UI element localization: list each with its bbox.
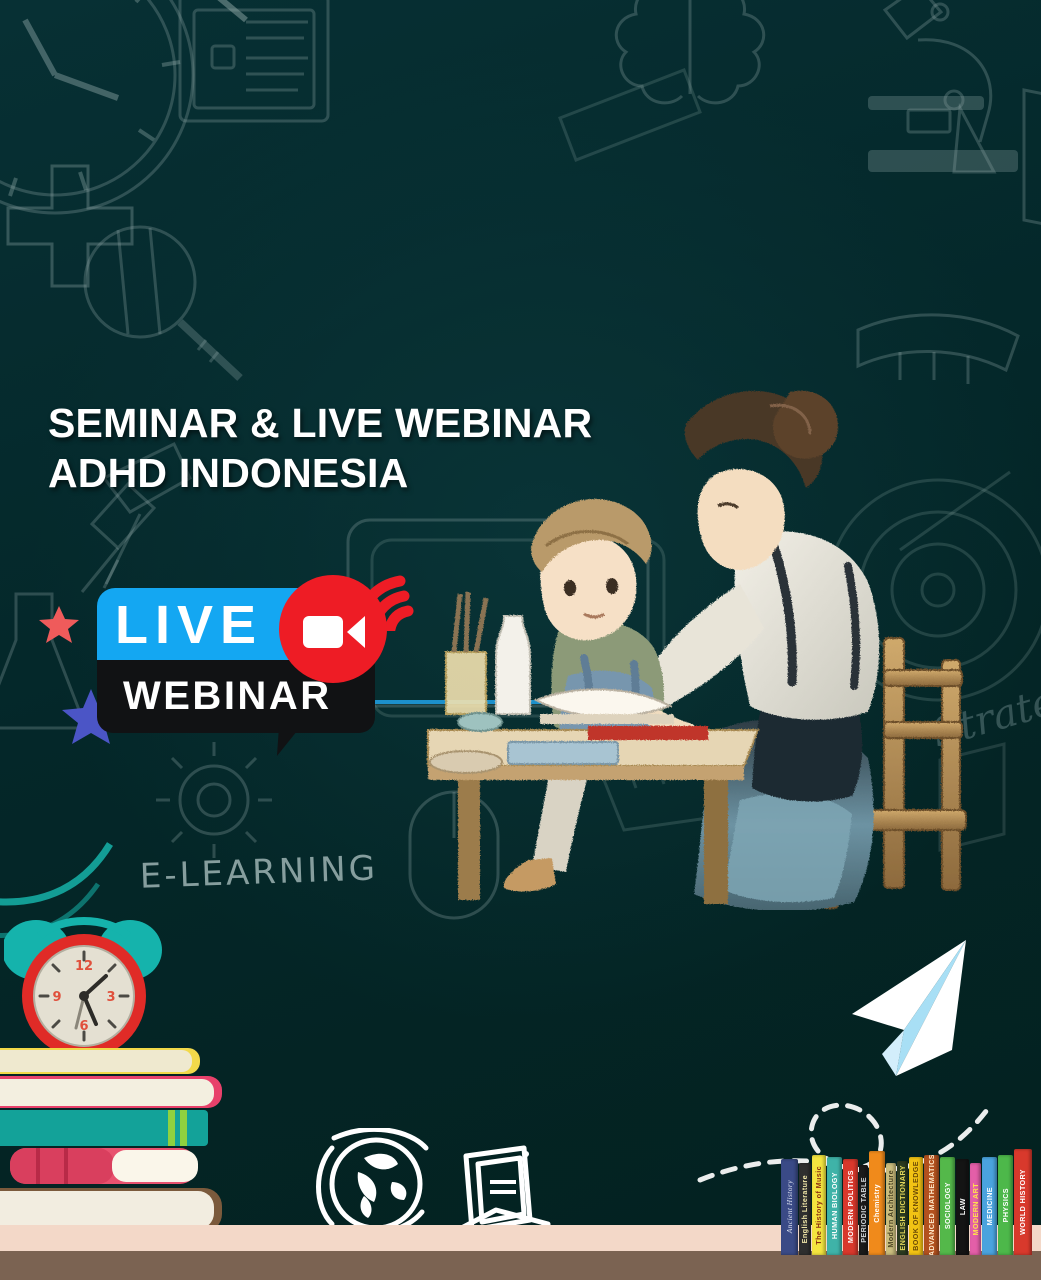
book-spine: English Literature (799, 1163, 811, 1255)
book-spine-title: MEDICINE (986, 1187, 993, 1225)
book-spine: The History of Music (812, 1155, 826, 1255)
book-spine: HUMAN BIOLOGY (827, 1157, 842, 1255)
book-spine: MEDICINE (982, 1157, 997, 1255)
book-spine-title: Chemistry (873, 1184, 880, 1223)
book-spine-title: ADVANCED MATHEMATICS (928, 1155, 935, 1255)
book-spine: Modern Architecture (886, 1163, 896, 1255)
book-spine: MODERN ART (970, 1163, 981, 1255)
book-spine: PERIODIC TABLE (859, 1165, 868, 1255)
book-spine: PHYSICS (998, 1155, 1013, 1255)
book-stack (0, 1048, 256, 1248)
video-camera-icon (303, 612, 365, 652)
live-label: LIVE (115, 594, 305, 656)
airplane-body (852, 940, 966, 1076)
book-spine-title: SOCIOLOGY (944, 1182, 951, 1229)
book-spine-title: MODERN POLITICS (847, 1170, 854, 1243)
book-spine-title: Modern Architecture (887, 1170, 894, 1248)
book-spine-title: HUMAN BIOLOGY (831, 1172, 838, 1239)
svg-text:12: 12 (75, 959, 93, 974)
book-spine: MODERN POLITICS (843, 1159, 858, 1255)
elearning-chalk-text: E-LEARNING (139, 847, 411, 910)
book-spine-title: The History of Music (815, 1166, 822, 1245)
page-title: SEMINAR & LIVE WEBINAR ADHD INDONESIA (48, 398, 688, 498)
book-spine-title: PHYSICS (1002, 1188, 1009, 1222)
book-spine: Ancient History (781, 1159, 798, 1255)
book-spine-title: PERIODIC TABLE (860, 1177, 867, 1243)
book-spine-title: Ancient History (786, 1180, 794, 1233)
title-line-1: SEMINAR & LIVE WEBINAR (48, 400, 592, 446)
live-webinar-badge[interactable]: LIVE WEBINAR (97, 588, 397, 763)
svg-text:6: 6 (79, 1019, 88, 1034)
book-spine-title: BOOK OF KNOWLEDGE (912, 1161, 919, 1251)
book-spine: LAW (956, 1159, 969, 1255)
svg-text:9: 9 (52, 990, 61, 1005)
book-spine: ENGLISH DICTIONARY (897, 1161, 908, 1255)
book-spine: WORLD HISTORY (1014, 1149, 1032, 1255)
book-spine: BOOK OF KNOWLEDGE (909, 1157, 923, 1255)
svg-text:3: 3 (106, 990, 115, 1005)
webinar-label: WEBINAR (123, 667, 373, 725)
bookshelf-row: Ancient HistoryEnglish LiteratureThe His… (781, 1145, 1041, 1255)
book-spine-title: MODERN ART (972, 1183, 979, 1235)
book-spine: Chemistry (869, 1151, 885, 1255)
book-spine-title: LAW (959, 1198, 966, 1215)
star-red-icon (38, 604, 80, 646)
book-spine-title: WORLD HISTORY (1019, 1169, 1026, 1235)
book-spine-title: English Literature (801, 1175, 808, 1243)
title-line-2: ADHD INDONESIA (48, 448, 688, 498)
speech-tail (277, 726, 301, 756)
poster-canvas: Strategy (0, 0, 1041, 1280)
book-spine-title: ENGLISH DICTIONARY (899, 1165, 906, 1251)
book-spine: ADVANCED MATHEMATICS (924, 1155, 939, 1255)
book-spine: SOCIOLOGY (940, 1157, 955, 1255)
shelf-edge (0, 1251, 1041, 1280)
